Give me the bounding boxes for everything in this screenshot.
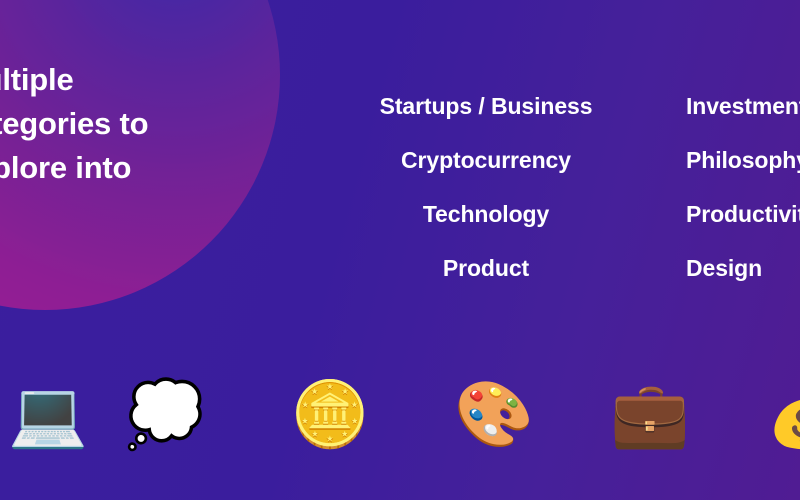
page-title: Multiple categories to explore into <box>0 58 288 190</box>
category-item-philosophy[interactable]: Philosophy <box>686 142 800 196</box>
money-bag-icon: 💰 <box>764 372 800 456</box>
category-item-investment[interactable]: Investment <box>686 88 800 142</box>
emoji-strip: 💻 💭 🪙 🎨 💼 💰 <box>0 372 800 456</box>
category-item-cryptocurrency[interactable]: Cryptocurrency <box>306 142 666 196</box>
laptop-icon: 💻 <box>6 372 90 456</box>
category-item-technology[interactable]: Technology <box>306 196 666 250</box>
category-column-secondary: Investment Philosophy Productivity Desig… <box>686 88 800 304</box>
category-item-design[interactable]: Design <box>686 250 800 304</box>
thought-balloon-icon: 💭 <box>123 372 207 456</box>
briefcase-icon: 💼 <box>608 372 692 456</box>
artist-palette-icon: 🎨 <box>452 372 536 456</box>
category-item-productivity[interactable]: Productivity <box>686 196 800 250</box>
category-item-product[interactable]: Product <box>306 250 666 304</box>
category-column-primary: Startups / Business Cryptocurrency Techn… <box>306 88 666 304</box>
category-item-startups-business[interactable]: Startups / Business <box>306 88 666 142</box>
coin-icon: 🪙 <box>288 372 372 456</box>
slide-canvas: Multiple categories to explore into Star… <box>0 0 800 500</box>
